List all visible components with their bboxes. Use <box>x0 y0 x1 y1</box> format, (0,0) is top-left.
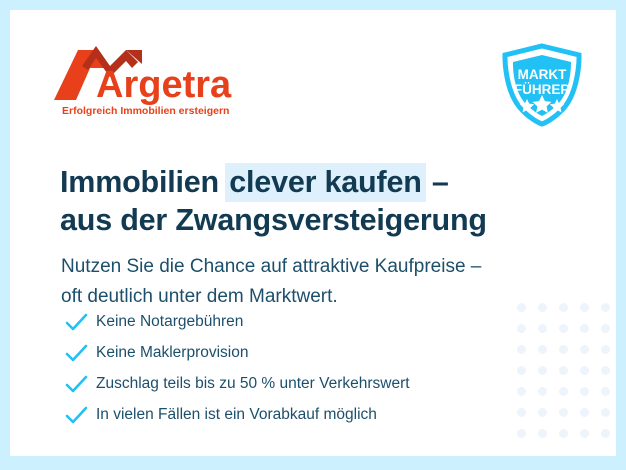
grid-dot <box>559 408 568 417</box>
list-item: In vielen Fällen ist ein Vorabkauf mögli… <box>64 399 534 430</box>
check-icon <box>64 343 90 363</box>
grid-dot <box>601 387 610 396</box>
grid-dot <box>580 345 589 354</box>
grid-dot <box>601 366 610 375</box>
badge-line1: MARKT <box>518 67 567 82</box>
grid-dot <box>517 429 526 438</box>
check-label: Zuschlag teils bis zu 50 % unter Verkehr… <box>90 375 410 393</box>
badge-line2: FÜHRER <box>514 82 570 97</box>
subheading-line1: Nutzen Sie die Chance auf attraktive Kau… <box>61 256 481 277</box>
promo-banner-frame: Argetra Erfolgreich Immobilien ersteiger… <box>0 0 626 470</box>
markt-fuehrer-badge: MARKT FÜHRER <box>499 43 585 127</box>
grid-dot <box>601 303 610 312</box>
check-label: In vielen Fällen ist ein Vorabkauf mögli… <box>90 406 377 424</box>
check-label: Keine Notargebühren <box>90 313 243 331</box>
grid-dot <box>559 324 568 333</box>
logo-tagline: Erfolgreich Immobilien ersteigern <box>62 105 229 117</box>
check-icon <box>64 312 90 332</box>
check-icon <box>64 374 90 394</box>
logo-wordmark: Argetra <box>96 64 232 106</box>
subheading: Nutzen Sie die Chance auf attraktive Kau… <box>61 252 581 312</box>
grid-dot <box>538 324 547 333</box>
headline-highlight: clever kaufen <box>225 163 425 202</box>
grid-dot <box>538 408 547 417</box>
grid-dot <box>601 429 610 438</box>
grid-dot <box>559 366 568 375</box>
headline-line2: aus der Zwangsversteigerung <box>60 201 600 239</box>
check-icon <box>64 405 90 425</box>
grid-dot <box>580 303 589 312</box>
grid-dot <box>538 345 547 354</box>
promo-card: Argetra Erfolgreich Immobilien ersteiger… <box>10 10 616 456</box>
grid-dot <box>601 345 610 354</box>
grid-dot <box>538 366 547 375</box>
check-label: Keine Maklerprovision <box>90 344 249 362</box>
grid-dot <box>538 429 547 438</box>
list-item: Zuschlag teils bis zu 50 % unter Verkehr… <box>64 368 534 399</box>
grid-dot <box>559 429 568 438</box>
grid-dot <box>559 345 568 354</box>
list-item: Keine Notargebühren <box>64 306 534 337</box>
grid-dot <box>580 366 589 375</box>
list-item: Keine Maklerprovision <box>64 337 534 368</box>
argetra-logo[interactable]: Argetra Erfolgreich Immobilien ersteiger… <box>52 44 242 120</box>
grid-dot <box>580 429 589 438</box>
headline-line1-prefix: Immobilien <box>60 165 227 199</box>
grid-dot <box>601 324 610 333</box>
grid-dot <box>580 408 589 417</box>
headline-line1-suffix: – <box>424 165 449 199</box>
grid-dot <box>580 387 589 396</box>
grid-dot <box>601 408 610 417</box>
grid-dot <box>580 324 589 333</box>
benefits-checklist: Keine Notargebühren Keine Maklerprovisio… <box>64 306 534 430</box>
grid-dot <box>559 387 568 396</box>
grid-dot <box>538 387 547 396</box>
page-title: Immobilien clever kaufen – aus der Zwang… <box>60 163 600 239</box>
